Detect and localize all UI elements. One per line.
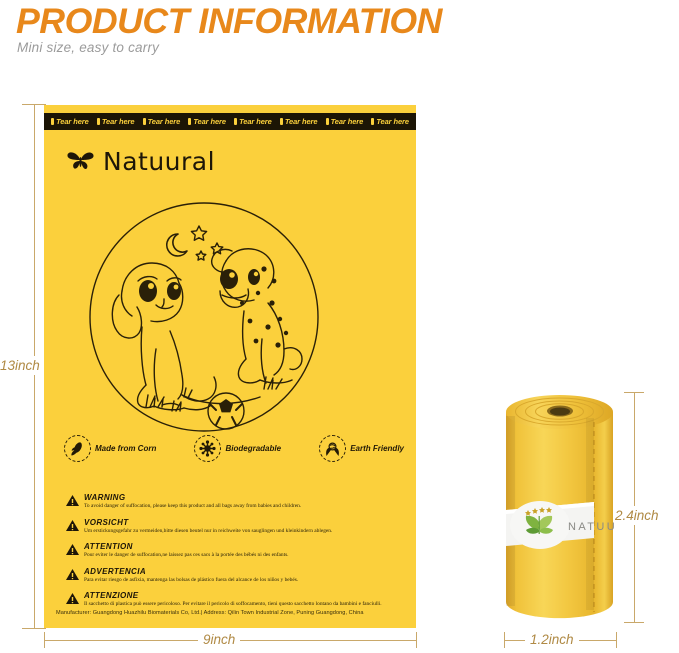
hands-earth-icon [319, 435, 346, 462]
warning-body: Para evitar riesgo de asfixia, mantenga … [84, 577, 298, 584]
warning-title: VORSICHT [84, 518, 332, 528]
roll-width-cap-left [504, 632, 505, 648]
tear-here-item: Tear here [280, 117, 318, 126]
page-title: PRODUCT INFORMATION [16, 2, 546, 42]
tear-mark-icon [51, 118, 54, 125]
warning-list: WARNING To avoid danger of suffocation, … [66, 493, 406, 616]
tear-here-strip: Tear here Tear here Tear here Tear here … [44, 113, 416, 130]
warning-row: ATTENZIONE Il sacchetto di plastica può … [66, 591, 406, 608]
tear-here-label: Tear here [193, 117, 226, 126]
roll-height-label: 2.4inch [614, 506, 660, 525]
warning-title: ADVERTENCIA [84, 567, 298, 577]
feature-badges: Made from Corn Bio [64, 435, 404, 462]
warning-title: ATTENZIONE [84, 591, 382, 601]
bag-width-label: 9inch [198, 632, 240, 647]
feature-item: Made from Corn [64, 435, 156, 462]
roll-width-cap-right [616, 632, 617, 648]
tear-mark-icon [234, 118, 237, 125]
tear-mark-icon [97, 118, 100, 125]
tear-here-label: Tear here [331, 117, 364, 126]
warning-body: Il sacchetto di plastica può essere peri… [84, 601, 382, 608]
warning-body: Um erstickungsgefahr zu vermeiden,bitte … [84, 528, 332, 535]
tear-here-label: Tear here [376, 117, 409, 126]
poop-bag-front: Tear here Tear here Tear here Tear here … [44, 105, 416, 628]
roll-width-label: 1.2inch [525, 632, 579, 647]
tear-here-label: Tear here [239, 117, 272, 126]
tear-mark-icon [143, 118, 146, 125]
feature-item: Biodegradable [194, 435, 281, 462]
molecule-icon [194, 435, 221, 462]
bag-width-cap-left [44, 632, 45, 648]
manufacturer-info: Manufacturer: Guangdong Huazhilu Biomate… [56, 610, 406, 616]
warning-row: ADVERTENCIA Para evitar riesgo de asfixi… [66, 567, 406, 584]
warning-body: Pour eviter le danger de suffocation,ne … [84, 552, 289, 559]
warning-row: WARNING To avoid danger of suffocation, … [66, 493, 406, 510]
roll-label-text: NATUUR [568, 521, 617, 533]
green-leaves-icon [526, 516, 553, 534]
tear-here-item: Tear here [188, 117, 226, 126]
warning-triangle-icon [66, 544, 79, 555]
warning-triangle-icon [66, 569, 79, 580]
warning-title: WARNING [84, 493, 301, 503]
bag-width-cap-right [416, 632, 417, 648]
warning-title: ATTENTION [84, 542, 289, 552]
warning-triangle-icon [66, 520, 79, 531]
feature-label: Earth Friendly [350, 444, 404, 453]
tear-here-item: Tear here [234, 117, 272, 126]
feature-label: Biodegradable [225, 444, 281, 453]
bag-roll: NATUUR [502, 390, 617, 625]
tear-here-item: Tear here [143, 117, 181, 126]
two-dogs-illustration [86, 199, 322, 435]
corn-icon [64, 435, 91, 462]
tear-mark-icon [280, 118, 283, 125]
tear-here-item: Tear here [51, 117, 89, 126]
tear-here-label: Tear here [285, 117, 318, 126]
tear-mark-icon [188, 118, 191, 125]
tear-mark-icon [371, 118, 374, 125]
tear-here-item: Tear here [371, 117, 409, 126]
bag-height-label: 13inch [0, 356, 41, 375]
page-subtitle: Mini size, easy to carry [17, 40, 159, 55]
tear-here-label: Tear here [148, 117, 181, 126]
brand-name: Natuural [103, 147, 215, 176]
feature-item: Earth Friendly [319, 435, 404, 462]
bag-height-cap-top [22, 104, 46, 105]
warning-row: VORSICHT Um erstickungsgefahr zu vermeid… [66, 518, 406, 535]
roll-height-cap-bottom [624, 622, 644, 623]
tear-mark-icon [326, 118, 329, 125]
warning-triangle-icon [66, 495, 79, 506]
tear-here-label: Tear here [102, 117, 135, 126]
bag-height-cap-bottom [22, 628, 46, 629]
warning-row: ATTENTION Pour eviter le danger de suffo… [66, 542, 406, 559]
tear-here-item: Tear here [326, 117, 364, 126]
brand-lockup: Natuural [66, 147, 215, 176]
butterfly-leaf-icon [66, 149, 96, 175]
tear-here-item: Tear here [97, 117, 135, 126]
roll-height-cap-top [624, 392, 644, 393]
feature-label: Made from Corn [95, 444, 156, 453]
warning-body: To avoid danger of suffocation, please k… [84, 503, 301, 510]
warning-triangle-icon [66, 593, 79, 604]
tear-here-label: Tear here [56, 117, 89, 126]
